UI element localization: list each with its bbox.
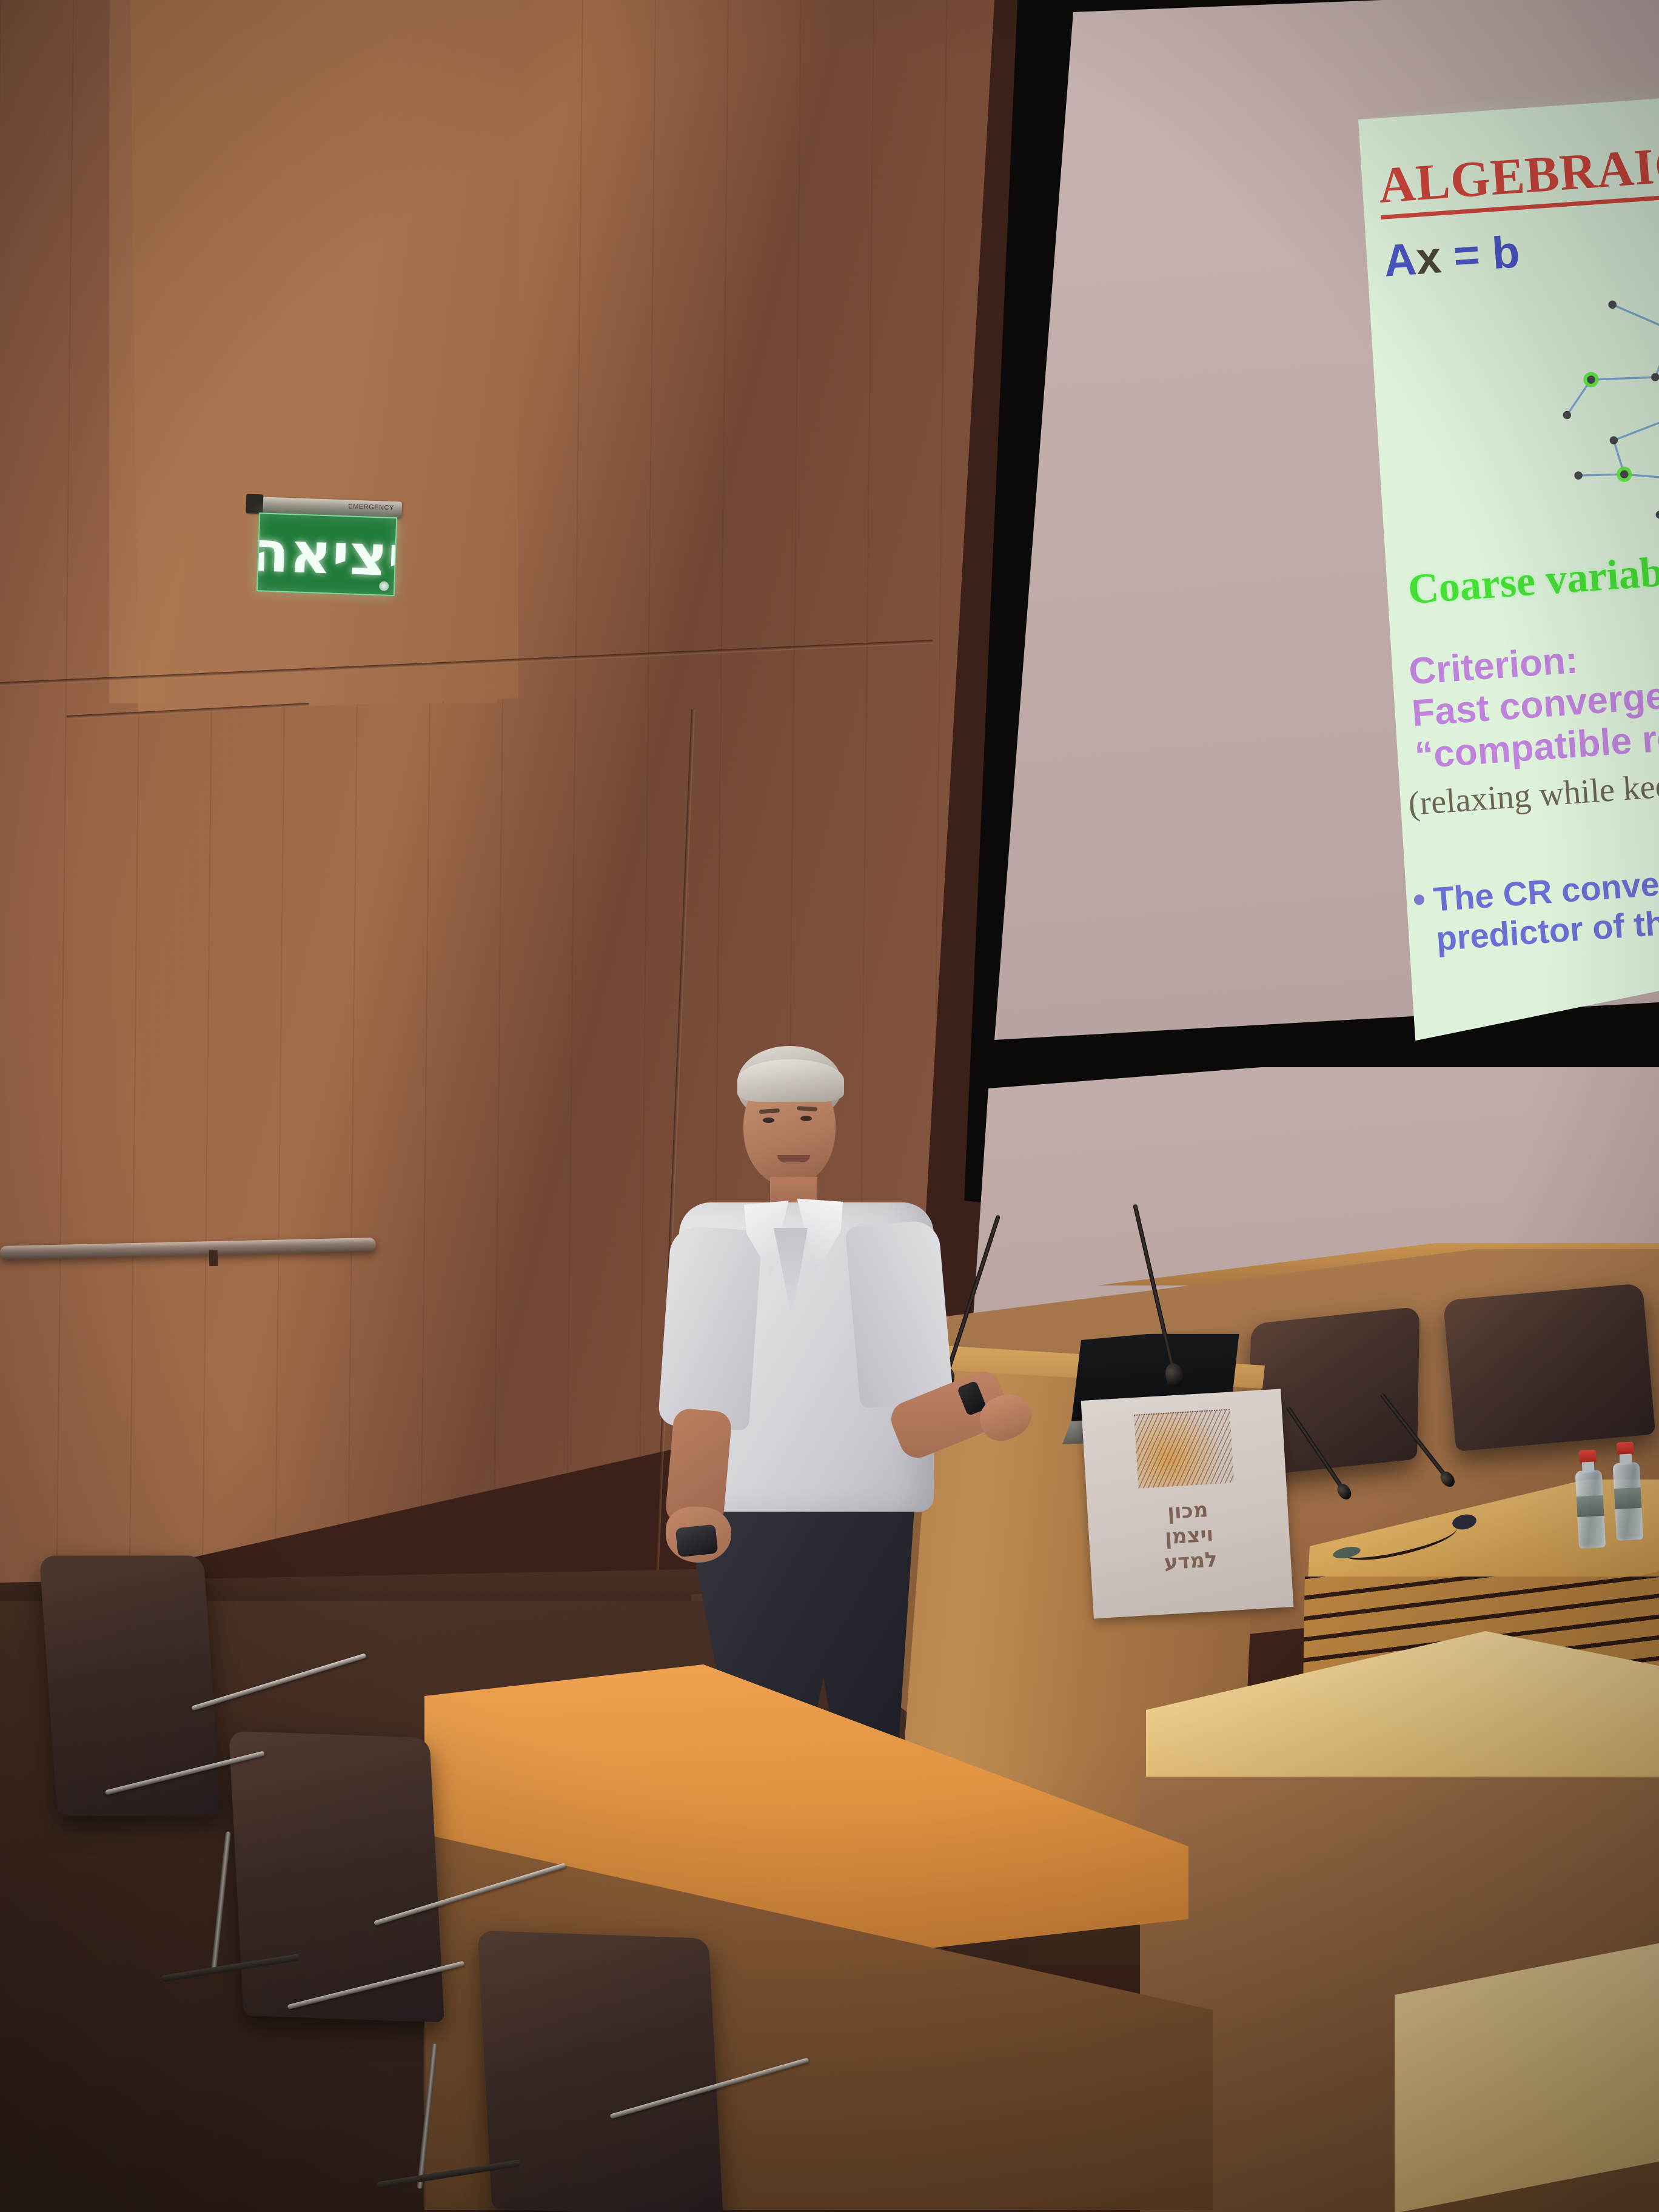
slide-criterion-block: Criterion: Fast convergence “compatible … [1407,628,1659,777]
plaque-line-3: למדע [1164,1547,1218,1576]
speaker-mouth [777,1155,810,1162]
speaker-sleeve-left [658,1225,763,1431]
water-bottle-left [1574,1450,1606,1549]
speaker-sleeve-right [845,1219,954,1409]
equation-rhs: = b [1439,226,1521,282]
weizmann-institute-logo [1134,1409,1234,1489]
equation-matrix-symbol: A [1382,233,1418,286]
slide-equation: Ax = b [1382,205,1659,287]
exit-sign-text: יציאה [256,524,397,585]
speaker-eye-right [800,1116,812,1121]
plaque-line-1: מכון [1161,1497,1215,1526]
audience-chair-1 [39,1556,222,1816]
audience-chair-3 [477,1931,723,2212]
slide-network-graph [1527,260,1659,538]
handrail-bracket [209,1250,218,1266]
exit-sign-bracket-end [246,494,263,514]
stage-chair-right [1443,1283,1656,1452]
speaker-person [618,1046,1007,1774]
bottle-label [1577,1495,1604,1517]
plaque-text-block: מכון ויצמן למדע [1161,1497,1218,1575]
exit-sign-panel: יציאה [256,512,397,596]
equation-unknown-symbol: x [1415,232,1443,284]
slide-bullet-dot [1413,894,1424,905]
wood-plank-block [130,0,518,712]
slide-coarse-variables-heading: Coarse variables [1407,545,1659,615]
bottle-label [1614,1487,1642,1509]
plaque-line-2: ויצמן [1162,1523,1216,1551]
presentation-clicker-in-hand [675,1524,719,1558]
slide-bullet-block: The CR converge predictor of the mu [1432,859,1659,959]
exit-sign-indicator-led [379,581,389,591]
slide-title: ALGEBRAIC [1377,139,1659,220]
water-bottle-right [1612,1443,1643,1541]
photograph-lecture-hall: EMERGENCY יציאה ALGEBRAIC Ax = b Coarse … [0,0,1659,2212]
audience-chair-2 [229,1731,444,2023]
emergency-exit-sign-assembly: EMERGENCY יציאה [243,510,403,600]
speaker-eye-left [763,1118,774,1123]
podium-institution-plaque: מכון ויצמן למדע [1081,1389,1294,1619]
speaker-hair-front [737,1059,844,1102]
